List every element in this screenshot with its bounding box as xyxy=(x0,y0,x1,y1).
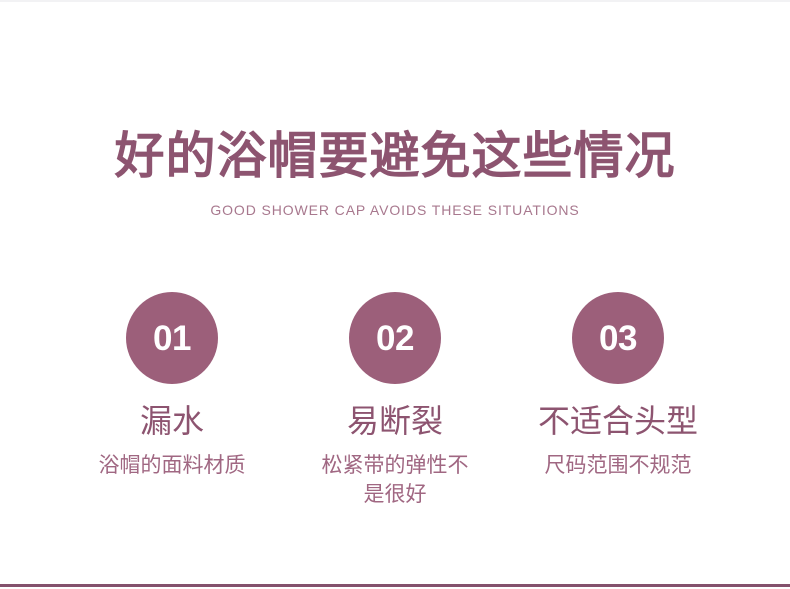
feature-column-2: 02 易断裂 松紧带的弹性不是很好 xyxy=(284,292,507,509)
feature-heading-1: 漏水 xyxy=(140,401,204,441)
feature-heading-2: 易断裂 xyxy=(347,401,443,441)
feature-description-2: 松紧带的弹性不是很好 xyxy=(315,451,475,509)
badge-number-label: 02 xyxy=(376,321,414,356)
feature-heading-3: 不适合头型 xyxy=(538,401,698,441)
feature-column-3: 03 不适合头型 尺码范围不规范 xyxy=(507,292,730,480)
feature-column-1: 01 漏水 浴帽的面料材质 xyxy=(61,292,284,480)
number-badge-03: 03 xyxy=(572,292,664,384)
number-badge-02: 02 xyxy=(349,292,441,384)
feature-columns: 01 漏水 浴帽的面料材质 02 易断裂 松紧带的弹性不是很好 03 不适合头型… xyxy=(0,292,790,509)
number-badge-01: 01 xyxy=(126,292,218,384)
feature-description-3: 尺码范围不规范 xyxy=(545,451,692,480)
badge-number-label: 01 xyxy=(153,321,191,356)
top-divider xyxy=(0,0,790,2)
bottom-divider xyxy=(0,584,790,587)
page-title: 好的浴帽要避免这些情况 xyxy=(0,126,790,186)
feature-description-1: 浴帽的面料材质 xyxy=(99,451,246,480)
badge-number-label: 03 xyxy=(599,321,637,356)
page-subtitle: GOOD SHOWER CAP AVOIDS THESE SITUATIONS xyxy=(0,201,790,219)
promo-banner: 好的浴帽要避免这些情况 GOOD SHOWER CAP AVOIDS THESE… xyxy=(0,0,790,589)
